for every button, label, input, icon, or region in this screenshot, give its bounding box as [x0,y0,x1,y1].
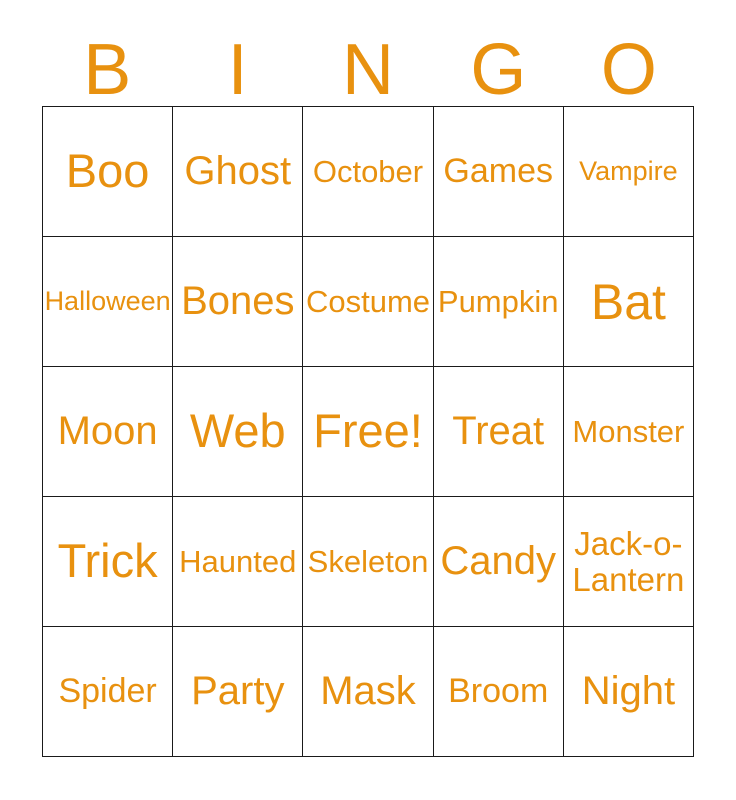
bingo-cell-label: Mask [320,670,416,713]
bingo-cell-label: Boo [66,146,150,197]
bingo-cell-label: Bat [591,275,666,329]
bingo-cell[interactable]: Monster [564,367,694,497]
bingo-cell-label: Bones [181,280,294,323]
bingo-cell-label: Jack-o- Lantern [572,526,684,597]
bingo-cell[interactable]: Haunted [173,497,303,627]
bingo-cell[interactable]: Trick [43,497,173,627]
bingo-cell-label: Spider [58,673,156,710]
bingo-cell[interactable]: Party [173,627,303,757]
bingo-cell[interactable]: Treat [434,367,564,497]
bingo-cell[interactable]: Costume [303,237,433,367]
bingo-cell-label: Haunted [179,545,296,578]
bingo-cell-label: Costume [306,285,430,318]
bingo-cell-label: Treat [452,410,544,453]
bingo-grid: BooGhostOctoberGamesVampireHalloweenBone… [42,106,694,757]
bingo-cell-label: Free! [313,406,423,457]
bingo-cell-label: Halloween [45,287,171,316]
bingo-cell-label: Skeleton [308,545,429,578]
bingo-header-letter-n: N [303,34,433,106]
bingo-cell-label: Party [191,670,284,713]
bingo-cell-label: Pumpkin [438,285,559,318]
bingo-cell[interactable]: Mask [303,627,433,757]
bingo-cell[interactable]: Broom [434,627,564,757]
bingo-cell[interactable]: Night [564,627,694,757]
bingo-header-letter-i: I [172,34,302,106]
bingo-cell[interactable]: Web [173,367,303,497]
bingo-cell-label: Moon [58,410,158,453]
bingo-cell[interactable]: Vampire [564,107,694,237]
bingo-cell[interactable]: Spider [43,627,173,757]
bingo-cell[interactable]: Boo [43,107,173,237]
bingo-card: BINGO BooGhostOctoberGamesVampireHallowe… [0,0,736,800]
bingo-cell-label: Ghost [184,150,291,193]
bingo-cell[interactable]: October [303,107,433,237]
bingo-cell-label: Games [443,153,553,190]
bingo-header-letter-b: B [42,34,172,106]
bingo-cell[interactable]: Games [434,107,564,237]
bingo-header: BINGO [42,18,694,106]
bingo-cell-label: Night [582,670,675,713]
bingo-cell[interactable]: Jack-o- Lantern [564,497,694,627]
bingo-cell-free[interactable]: Free! [303,367,433,497]
bingo-cell[interactable]: Skeleton [303,497,433,627]
bingo-cell-label: Web [190,406,286,457]
bingo-cell-label: Monster [572,415,684,448]
bingo-cell[interactable]: Moon [43,367,173,497]
bingo-cell[interactable]: Pumpkin [434,237,564,367]
bingo-cell-label: Candy [440,540,556,583]
bingo-header-letter-g: G [433,34,563,106]
bingo-cell[interactable]: Bones [173,237,303,367]
bingo-cell[interactable]: Candy [434,497,564,627]
bingo-cell-label: Trick [58,536,158,587]
bingo-cell-label: Vampire [579,157,678,186]
bingo-cell[interactable]: Halloween [43,237,173,367]
bingo-header-letter-o: O [564,34,694,106]
bingo-cell[interactable]: Bat [564,237,694,367]
bingo-cell-label: Broom [448,673,548,710]
bingo-cell-label: October [313,155,423,188]
bingo-cell[interactable]: Ghost [173,107,303,237]
